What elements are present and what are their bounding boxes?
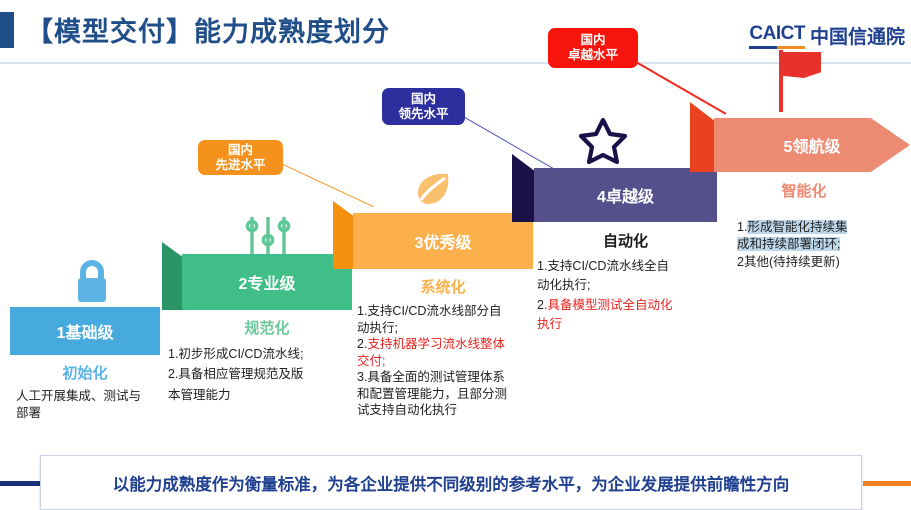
level-5-desc-selected: 形成智能化持续集	[747, 220, 847, 234]
level-4-step[interactable]: 4卓越级	[512, 168, 717, 222]
flag-cloth	[783, 52, 821, 78]
level-4-description: 1.支持CI/CD流水线全自 动化执行; 2.具备模型测试全自动化 执行	[537, 257, 723, 335]
level-1-description: 人工开展集成、测试与 部署	[16, 388, 166, 421]
level-1-subtitle: 初始化	[10, 362, 160, 383]
level-5-description: 1.形成智能化持续集 成和持续部署闭环; 2其他(待持续更新)	[737, 219, 907, 271]
callout-leading-line1: 国内	[398, 92, 448, 107]
level-4-label: 4卓越级	[534, 168, 717, 222]
level-3-label: 3优秀级	[353, 213, 533, 269]
level-3-desc-line: 交付;	[357, 353, 551, 370]
star-icon	[578, 116, 628, 169]
level-1-label: 1基础级	[10, 307, 160, 355]
level-3-description: 1.支持CI/CD流水线部分自 动执行; 2.支持机器学习流水线整体 交付; 3…	[357, 303, 551, 419]
summary-banner: 以能力成熟度作为衡量标准，为各企业提供不同级别的参考水平，为企业发展提供前瞻性方…	[40, 455, 862, 510]
callout-excellent-leader	[637, 62, 726, 115]
level-2-side	[162, 242, 184, 310]
callout-excellent[interactable]: 国内 卓越水平	[548, 28, 638, 68]
callout-excellent-line2: 卓越水平	[568, 48, 618, 63]
callout-excellent-line1: 国内	[568, 33, 618, 48]
level-3-desc-line: 和配置管理能力，且部分测	[357, 386, 551, 403]
level-2-desc-line: 1.初步形成CI/CD流水线;	[168, 344, 353, 364]
level-3-side	[333, 201, 355, 269]
level-2-description: 1.初步形成CI/CD流水线; 2.具备相应管理规范及版 本管理能力	[168, 344, 353, 405]
summary-banner-text: 以能力成熟度作为衡量标准，为各企业提供不同级别的参考水平，为企业发展提供前瞻性方…	[113, 471, 790, 495]
level-4-desc-line: 动化执行;	[537, 276, 723, 295]
level-4-subtitle: 自动化	[534, 230, 717, 251]
level-4-desc-line: 执行	[537, 315, 723, 334]
banner-accent-right	[863, 481, 911, 486]
level-5-step[interactable]: 5领航级	[690, 118, 911, 172]
callout-leading-leader	[465, 117, 556, 170]
level-2-step[interactable]: 2专业级	[162, 254, 352, 310]
level-3-desc-line: 2.支持机器学习流水线整体	[357, 336, 551, 353]
level-4-desc-line: 2.具备模型测试全自动化	[537, 296, 723, 315]
title-accent-bar	[0, 12, 14, 48]
level-1-desc-line: 部署	[16, 405, 166, 422]
level-3-desc-line: 1.支持CI/CD流水线部分自	[357, 303, 551, 320]
logo-underline-blue	[749, 46, 777, 49]
level-5-desc-line: 成和持续部署闭环;	[737, 236, 907, 253]
level-5-subtitle: 智能化	[714, 180, 894, 201]
callout-excellent-text: 国内 卓越水平	[568, 33, 618, 63]
level-4-desc-num: 2.	[537, 298, 547, 312]
callout-leading-text: 国内 领先水平	[398, 92, 448, 122]
level-3-desc-line: 3.具备全面的测试管理体系	[357, 369, 551, 386]
level-4-side	[512, 154, 536, 222]
level-3-desc-num: 2.	[357, 337, 367, 351]
level-2-desc-line: 本管理能力	[168, 385, 353, 405]
level-5-side	[690, 102, 716, 172]
callout-leading[interactable]: 国内 领先水平	[382, 88, 465, 125]
slide-root: 【模型交付】能力成熟度划分 CAICT 中国信通院 1基础级 初始化 人工开展集…	[0, 0, 911, 510]
level-2-label: 2专业级	[182, 254, 352, 310]
callout-advanced-line2: 先进水平	[215, 158, 265, 173]
logo-mark-text: CAICT	[749, 23, 805, 49]
header-divider	[0, 62, 911, 64]
level-1-desc-line: 人工开展集成、测试与	[16, 388, 166, 405]
page-title: 【模型交付】能力成熟度划分	[26, 10, 390, 49]
level-3-subtitle: 系统化	[353, 276, 533, 297]
level-5-desc-selected: 成和持续部署闭环;	[737, 237, 840, 251]
level-5-desc-line: 2其他(待持续更新)	[737, 254, 907, 271]
level-5-desc-num: 1.	[737, 220, 747, 234]
logo-underline-orange	[777, 46, 805, 49]
flag-icon	[779, 50, 825, 112]
level-5-desc-line: 1.形成智能化持续集	[737, 219, 907, 236]
callout-advanced-text: 国内 先进水平	[215, 143, 265, 173]
caict-logo: CAICT 中国信通院	[749, 22, 905, 49]
level-3-desc-highlight: 支持机器学习流水线整体	[367, 337, 505, 351]
callout-advanced-line1: 国内	[215, 143, 265, 158]
level-5-label: 5领航级	[714, 118, 910, 172]
logo-chinese-name: 中国信通院	[810, 22, 905, 49]
callout-advanced-leader	[283, 164, 374, 207]
level-3-step[interactable]: 3优秀级	[333, 213, 533, 269]
lock-icon	[70, 256, 114, 313]
callout-leading-line2: 领先水平	[398, 107, 448, 122]
level-2-desc-line: 2.具备相应管理规范及版	[168, 364, 353, 384]
level-3-desc-line: 试支持自动化执行	[357, 402, 551, 419]
logo-mark-label: CAICT	[749, 23, 805, 44]
callout-advanced[interactable]: 国内 先进水平	[198, 140, 283, 175]
level-4-desc-highlight: 具备模型测试全自动化	[547, 298, 672, 312]
level-3-desc-line: 动执行;	[357, 320, 551, 337]
flag-pole	[779, 50, 783, 112]
level-4-desc-line: 1.支持CI/CD流水线全自	[537, 257, 723, 276]
level-2-subtitle: 规范化	[182, 317, 352, 338]
level-1-step[interactable]: 1基础级	[10, 307, 160, 355]
leaf-icon	[412, 170, 454, 215]
